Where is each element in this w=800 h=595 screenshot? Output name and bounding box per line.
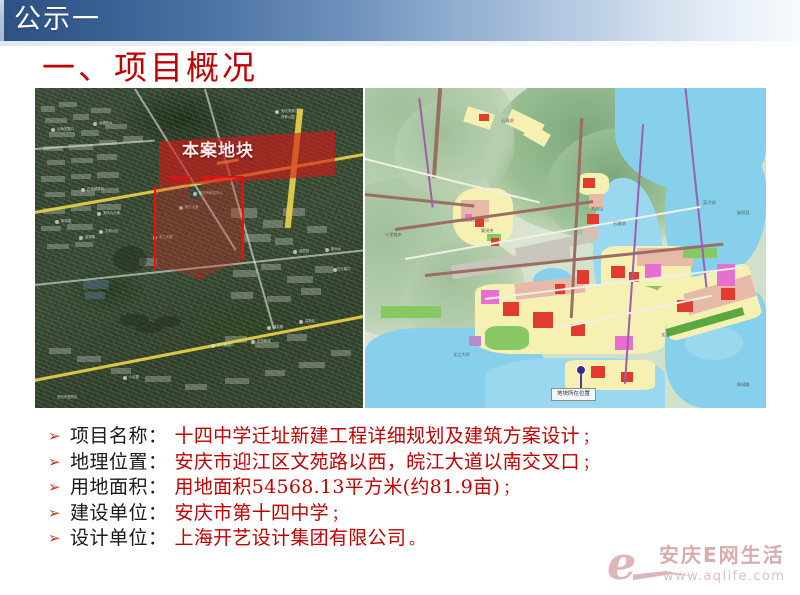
site-watermark: e 安庆E网生活 www.aqlife.com: [607, 538, 795, 590]
parcel-callout-label: 本案地块: [182, 141, 254, 161]
fact-punctuation: 。: [409, 528, 424, 549]
fact-value: 安庆市第十四中学: [175, 501, 329, 526]
slide-canvas: 公示一 一、项目概况: [0, 0, 800, 595]
header-title: 公示一: [14, 3, 101, 37]
fact-row-project-name: ➢ 项目名称： 十四中学迁址新建工程详细规划及建筑方案设计 ；: [48, 424, 788, 450]
page-title: 一、项目概况: [42, 48, 258, 88]
arrow-bullet-icon: ➢: [48, 424, 70, 449]
satellite-aerial-map: 山海关路口 龙狮桥乡 白泽湖路口 安庆九大道 新苑路 文苑小区 宜城路 市工大厦…: [35, 88, 363, 408]
arrow-bullet-icon: ➢: [48, 526, 70, 551]
fact-label: 用地面积：: [70, 475, 168, 500]
fact-punctuation: ；: [332, 503, 347, 524]
fact-value: 安庆市迎江区文苑路以西，皖江大道以南交叉口: [175, 450, 580, 475]
fact-row-location: ➢ 地理位置： 安庆市迎江区文苑路以西，皖江大道以南交叉口 ；: [48, 450, 788, 476]
arrow-bullet-icon: ➢: [48, 450, 70, 475]
plan-callout-label: 地块所在位置: [551, 388, 596, 401]
fact-label: 建设单位：: [70, 501, 168, 526]
fact-value: 上海开艺设计集团有限公司: [175, 526, 407, 551]
header-bar: [0, 0, 800, 41]
fact-punctuation: ；: [583, 452, 598, 473]
fact-value: 十四中学迁址新建工程详细规划及建筑方案设计: [175, 424, 580, 449]
header-left-edge: [0, 0, 4, 41]
fact-label: 设计单位：: [70, 526, 168, 551]
fact-label: 项目名称：: [70, 424, 168, 449]
arrow-bullet-icon: ➢: [48, 501, 70, 526]
header-underline-strip: [0, 41, 800, 46]
fact-row-site-area: ➢ 用地面积： 用地面积54568.13平方米(约81.9亩) ；: [48, 475, 788, 501]
watermark-url: www.aqlife.com: [663, 569, 785, 585]
figure-row: 山海关路口 龙狮桥乡 白泽湖路口 安庆九大道 新苑路 文苑小区 宜城路 市工大厦…: [35, 88, 766, 408]
fact-row-developer: ➢ 建设单位： 安庆市第十四中学 ；: [48, 501, 788, 527]
fact-punctuation: ；: [503, 477, 518, 498]
city-landuse-master-plan: 石塘湖 大龙山 石塘湖 菜子湖 十里铺乡 集贤关 长江大桥 长江 桐城路 枞阳县…: [365, 88, 766, 408]
fact-label: 地理位置：: [70, 450, 168, 475]
project-facts-list: ➢ 项目名称： 十四中学迁址新建工程详细规划及建筑方案设计 ； ➢ 地理位置： …: [48, 424, 788, 552]
watermark-brand-cn: 安庆E网生活: [659, 543, 785, 567]
arrow-bullet-icon: ➢: [48, 475, 70, 500]
site-location-leader: [580, 373, 582, 389]
fact-punctuation: ；: [583, 426, 598, 447]
watermark-e-logo-icon: e: [607, 540, 636, 586]
fact-value: 用地面积54568.13平方米(约81.9亩): [175, 475, 501, 500]
